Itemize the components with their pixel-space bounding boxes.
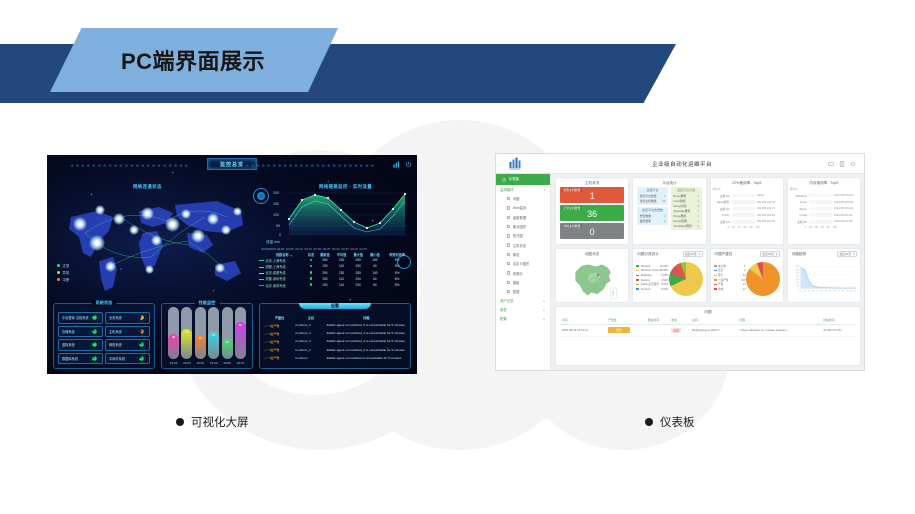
menu-item-icon bbox=[507, 253, 510, 256]
col-host: 主机 bbox=[295, 314, 326, 321]
alarm-host: localhost bbox=[295, 354, 326, 362]
bar-track bbox=[809, 207, 832, 211]
bar-value: 56 bbox=[181, 330, 192, 334]
cell-duration: 4d 23h 6m 14s bbox=[821, 324, 856, 336]
sidebar-item[interactable]: 概览 bbox=[496, 250, 550, 259]
sidebar-item-dashboard[interactable]: 仪表板 bbox=[496, 174, 550, 185]
bar-value: 192.168.100.73 bbox=[757, 207, 779, 210]
bar-label: Proxy bbox=[792, 207, 807, 211]
gauge-ring bbox=[137, 354, 146, 363]
table-column-header[interactable]: 恢复时间 bbox=[646, 316, 669, 325]
col-problem: 问题 bbox=[326, 314, 406, 321]
sidebar-group-label: 报表 bbox=[500, 307, 507, 312]
gauge-label: 中间件系统 bbox=[109, 356, 125, 361]
legend-label: 异常 bbox=[63, 271, 70, 275]
axis-tick: 05 bbox=[816, 290, 818, 292]
bar-value: 46 bbox=[195, 336, 206, 340]
sidebar-group[interactable]: 配置▸ bbox=[496, 314, 550, 323]
sidebar-item[interactable]: 问题 bbox=[496, 194, 550, 203]
axis-tick: 350 bbox=[795, 266, 798, 268]
platform-alarm-box: 监控平台告警数 告警数量1故障数量0 bbox=[637, 207, 668, 225]
board-topbar: ◄◄◄◄◄◄◄◄◄◄◄◄◄◄◄◄◄◄◄◄◄◄◄◄◄ 监控总览 ►►►►►►►►►… bbox=[47, 155, 417, 177]
stat-row-value: 1 bbox=[697, 214, 699, 218]
sidebar-item-label: 问题 bbox=[513, 196, 520, 201]
topbar-left-decoration: ◄◄◄◄◄◄◄◄◄◄◄◄◄◄◄◄◄◄◄◄◄◄◄◄◄ bbox=[69, 164, 189, 169]
bar-label: 主机-05 bbox=[792, 220, 807, 224]
sidebar-item-label: 资源分 bbox=[513, 271, 523, 276]
bar-track bbox=[732, 194, 755, 198]
sidebar-group-label: 监测模块 bbox=[500, 187, 514, 192]
stat-row-value: 1 bbox=[697, 224, 699, 228]
chevron-down-icon: ▾ bbox=[776, 252, 777, 256]
memory-top5-card: 内存使用率 - Top5 单位/% Windows192.168.100.101… bbox=[787, 177, 861, 245]
chevron-down-icon: ▾ bbox=[699, 252, 700, 256]
bar-time-label: 16:06 bbox=[223, 361, 231, 365]
gauge-item: 主机系统 bbox=[105, 326, 150, 338]
stat-card: 告警主机数量1 bbox=[560, 187, 624, 203]
select-value: 最近30天 bbox=[685, 252, 697, 256]
alarm-host: localhost_3 bbox=[295, 337, 326, 345]
axis-tick: 10 bbox=[837, 290, 839, 292]
alarm-panel: 告警 严重性 主机 问题 —一般严重localhost_5Zabbix agen… bbox=[259, 303, 411, 369]
map-legend: 正常 异常 中断 bbox=[57, 263, 69, 284]
axis-tick: 20 bbox=[809, 226, 812, 229]
problem-category-card: 问题分类统计 最近30天 ▾ Network12.00%Windows Serv… bbox=[632, 248, 706, 303]
sidebar-item[interactable]: Web监测 bbox=[496, 203, 550, 212]
bar-tube: 56 bbox=[181, 307, 192, 359]
table-row[interactable]: 2020-08-03 16:15:44警告问题Beijing Export 1/… bbox=[560, 324, 856, 336]
sidebar-item[interactable]: 拓扑图 bbox=[496, 231, 550, 240]
alarm-host: localhost_4 bbox=[295, 329, 326, 337]
performance-panel: 性能监控 4816:025616:034616:045216:403416:06… bbox=[161, 303, 253, 369]
bar-value: 192.168.100.105 bbox=[834, 201, 856, 204]
stat-row-value: 1 bbox=[664, 194, 666, 198]
problem-severity-legend: 未分类0信息1警告61一般严重607严重13灾难17 bbox=[714, 265, 746, 293]
axis-tick: 100 bbox=[833, 226, 837, 229]
sidebar-group[interactable]: 监测模块▾ bbox=[496, 185, 550, 194]
menu-item-icon bbox=[507, 206, 510, 209]
bar-time-label: 16:40 bbox=[210, 361, 218, 365]
sidebar-item-label: 拓扑图 bbox=[513, 233, 523, 238]
bar-column: 4616:04 bbox=[194, 307, 207, 365]
stat-row-value: 1 bbox=[697, 199, 699, 203]
problem-table-card: 问题 时间严重性恢复时间状态主机问题持续时间 2020-08-03 16:15:… bbox=[555, 306, 861, 366]
cpu-top5-card: CPU使用率 - Top5 单位/% 主机-01zabbixNginx服务192… bbox=[710, 177, 784, 245]
sidebar-item[interactable]: 资源分 bbox=[496, 268, 550, 277]
gauge-panel-title: 系统状态 bbox=[92, 300, 117, 306]
sidebar-item-label: Web监测 bbox=[513, 205, 526, 210]
gauge-label: 虚拟系统 bbox=[62, 342, 75, 347]
gauge-label: 主机系统 bbox=[109, 329, 122, 334]
stat-row-value: 1 bbox=[664, 214, 666, 218]
bar-value: 192.168.100.59 bbox=[757, 220, 779, 223]
sidebar-active-label: 仪表板 bbox=[509, 177, 520, 182]
axis-tick: 0 bbox=[805, 226, 806, 229]
bar-tube: 60 bbox=[235, 307, 246, 359]
bar-row: 主机-05192.168.100.38 bbox=[792, 220, 856, 224]
monitor-platform-box: 监控平台 监控平台数量1监控主机数量36 bbox=[637, 187, 668, 205]
screenshot-dashboard[interactable]: 企业级自动化运维平台 仪表板 监测模块▾问题Web监测最新数据聚合图形拓扑图主机… bbox=[495, 153, 865, 371]
bar-track bbox=[809, 213, 832, 217]
dashboard-main: 主机状况 告警主机数量1正常主机数量36停机主机数量0 平台统计 监控平台 监控… bbox=[552, 174, 864, 370]
sidebar-group[interactable]: 报表▸ bbox=[496, 305, 550, 314]
bar-time-label: 16:07 bbox=[237, 361, 245, 365]
bar-panel-title: 性能监控 bbox=[195, 300, 220, 306]
axis-tick: 250 bbox=[795, 272, 798, 274]
bar-time-label: 16:02 bbox=[170, 361, 178, 365]
bar-row: 主机-01zabbix bbox=[715, 194, 779, 198]
axis-tick: 40 bbox=[738, 226, 741, 229]
gauge-label: 平台整体-当前系统 bbox=[62, 315, 89, 320]
problem-trend-chart: 350300250200150100500 010203040506070809… bbox=[788, 258, 860, 301]
bar-label: 主机-03 bbox=[715, 220, 730, 224]
bar-column: 5216:40 bbox=[207, 307, 220, 365]
stat-row-value: 1 bbox=[697, 209, 699, 213]
axis-tick: 80 bbox=[827, 226, 830, 229]
bar-track bbox=[809, 200, 832, 204]
stat-row-key: 监控平台数量 bbox=[640, 194, 657, 198]
menu-item-icon bbox=[507, 216, 510, 219]
axis-tick: 100 bbox=[755, 226, 759, 229]
sidebar-item[interactable]: 聚合图形 bbox=[496, 222, 550, 231]
axis-tick: 07 bbox=[825, 290, 827, 292]
gauge-item: 平台整体-当前系统 bbox=[58, 312, 103, 324]
bar-value: 60 bbox=[235, 323, 246, 327]
bar-value: 192.168.100.45 bbox=[834, 214, 856, 217]
svg-text:200: 200 bbox=[273, 191, 279, 195]
system-status-panel: 系统状态 平台整体-当前系统业务系统存储系统主机系统虚拟系统网络系统数据库系统中… bbox=[53, 303, 155, 369]
china-map bbox=[556, 258, 628, 302]
svg-text:50: 50 bbox=[276, 224, 280, 228]
stat-row-key: Linux群组 bbox=[673, 199, 685, 203]
axis-tick: 08 bbox=[829, 290, 831, 292]
axis-tick: 150 bbox=[795, 278, 798, 280]
axis-tick: 02 bbox=[803, 290, 805, 292]
bar-column: 6016:07 bbox=[234, 307, 247, 365]
alarm-panel-title: 告警 bbox=[299, 303, 371, 309]
alarm-problem: Zabbix agent on localhost_4 is unreachab… bbox=[326, 329, 406, 337]
legend-label: 正常 bbox=[63, 264, 70, 268]
stat-row-key: 故障数量 bbox=[640, 219, 651, 223]
sidebar-item[interactable]: 模板 bbox=[496, 278, 550, 287]
sidebar-item-label: 主机状态 bbox=[513, 243, 526, 248]
alarm-problem: Zabbix agent on localhost_2 is unreachab… bbox=[326, 346, 406, 354]
axis-tick: 12 bbox=[846, 290, 848, 292]
bar-row: Proxy192.168.100.62 bbox=[715, 213, 779, 217]
table-header-row: 严重性 主机 问题 bbox=[264, 314, 406, 321]
orbit-decoration bbox=[257, 192, 265, 200]
note-icon[interactable] bbox=[839, 161, 845, 167]
bar-column: 4816:02 bbox=[167, 307, 180, 365]
bar-label: 主机-01 bbox=[715, 194, 730, 198]
axis-tick: 20 bbox=[732, 226, 735, 229]
memory-top5-title: 内存使用率 - Top5 bbox=[788, 178, 860, 187]
problem-table-title: 问题 bbox=[556, 307, 860, 316]
bar-track bbox=[732, 213, 755, 217]
table-row: —一般严重localhost_4Zabbix agent on localhos… bbox=[264, 329, 406, 337]
host-status-title: 主机状况 bbox=[556, 178, 628, 187]
cell-problem: Output utilization on 'outside' interfac… bbox=[738, 324, 822, 336]
bar-row: 主机-02192.168.100.73 bbox=[715, 207, 779, 211]
caption-right-label: 仪表板 bbox=[660, 414, 695, 430]
bar-column: 5616:03 bbox=[180, 307, 193, 365]
svg-text:100: 100 bbox=[273, 213, 279, 217]
menu-item-icon bbox=[507, 197, 510, 200]
legend-item: Protocol5.00% bbox=[636, 288, 668, 293]
caption-right: 仪表板 bbox=[645, 414, 695, 430]
bar-row: mysql192.168.100.45 bbox=[792, 213, 856, 217]
axis-tick: 300 bbox=[795, 269, 798, 271]
gauge-item: 数据库系统 bbox=[58, 353, 103, 365]
cell-time: 2020-08-03 16:15:44 bbox=[560, 324, 606, 336]
slide-header-banner: PC端界面展示 bbox=[0, 0, 915, 120]
axis-tick: 13 bbox=[850, 290, 852, 292]
stat-row-value: 1 bbox=[697, 219, 699, 223]
table-row: 北京-深圳专线190110290608% bbox=[259, 282, 411, 288]
problem-category-select[interactable]: 最近30天 ▾ bbox=[683, 251, 703, 257]
col-severity: 严重性 bbox=[264, 314, 295, 321]
gauge-item: 业务系统 bbox=[105, 312, 150, 324]
sidebar-item[interactable]: 最新数据 bbox=[496, 213, 550, 222]
stat-row-key: Group组群 bbox=[673, 219, 686, 223]
alarm-problem: Zabbix agent on localhost_3 is unreachab… bbox=[326, 337, 406, 345]
table-column-header[interactable]: 严重性 bbox=[606, 316, 646, 325]
stat-value: 1 bbox=[560, 187, 624, 203]
axis-tick: 50 bbox=[797, 285, 799, 287]
select-value: 最近30天 bbox=[840, 252, 852, 256]
world-map bbox=[55, 187, 251, 299]
menu-item-icon bbox=[507, 262, 510, 265]
bar-value: zabbix bbox=[757, 194, 779, 197]
bullet-icon bbox=[645, 418, 653, 426]
alarm-host: localhost_2 bbox=[295, 346, 326, 354]
stat-row-key: Proxy群组 bbox=[673, 214, 686, 218]
bar-value: 192.168.100.62 bbox=[757, 214, 779, 217]
bar-tube: 46 bbox=[195, 307, 206, 359]
problem-severity-select[interactable]: 最近30天 ▾ bbox=[760, 251, 780, 257]
bar-column: 3416:06 bbox=[221, 307, 234, 365]
problem-severity-pie bbox=[746, 262, 780, 296]
select-value: 最近30天 bbox=[762, 252, 774, 256]
stat-row-value: 36 bbox=[662, 199, 665, 203]
menu-item-icon bbox=[507, 281, 510, 284]
power-icon[interactable] bbox=[405, 161, 412, 168]
gauge-label: 存储系统 bbox=[62, 329, 75, 334]
bar-value: 192.168.100.101 bbox=[834, 194, 856, 197]
alarm-severity: —一般严重 bbox=[264, 329, 295, 337]
stat-row-value: 1 bbox=[697, 194, 699, 198]
bar-row: Linux192.168.100.105 bbox=[792, 200, 856, 204]
link-traffic-table: 2020/08/06 00:00 00:05 00:10 00:15 00:20… bbox=[259, 247, 411, 288]
problem-trend-card: 问题趋势 最近30天 ▾ bbox=[787, 248, 861, 303]
axis-tick: 04 bbox=[812, 290, 814, 292]
stat-row-key: Templates群组 bbox=[673, 224, 691, 228]
bar-label: 主机-02 bbox=[715, 207, 730, 211]
sidebar-group[interactable]: 资产记录▸ bbox=[496, 296, 550, 305]
message-icon[interactable] bbox=[828, 161, 834, 167]
chevron-down-icon: ▸ bbox=[543, 317, 545, 321]
platform-stats-card: 平台统计 监控平台 监控平台数量1监控主机数量36 监控平台告警数 告警数量1故… bbox=[632, 177, 706, 245]
platform-stats-title: 平台统计 bbox=[633, 178, 705, 187]
alarm-severity: —一般严重 bbox=[264, 346, 295, 354]
stat-value: 36 bbox=[560, 205, 624, 221]
geo-map-title: 地图状态 bbox=[556, 249, 628, 258]
power-icon[interactable] bbox=[850, 161, 856, 167]
chevron-down-icon: ▾ bbox=[543, 188, 545, 192]
gauge-ring bbox=[90, 313, 99, 322]
traffic-area-chart: 200150100 500 流量 m/s bbox=[265, 185, 411, 247]
screenshot-visualization-board[interactable]: ◄◄◄◄◄◄◄◄◄◄◄◄◄◄◄◄◄◄◄◄◄◄◄◄◄ 监控总览 ►►►►►►►►►… bbox=[47, 155, 417, 374]
bar-label: Proxy bbox=[715, 213, 730, 217]
problem-severity-card: 问题严重性 最近30天 ▾ 未分类0信息1警告61一般严重607严重13灾难17 bbox=[710, 248, 784, 303]
table-header-row: 时间严重性恢复时间状态主机问题持续时间 bbox=[560, 316, 856, 325]
bar-tube: 52 bbox=[208, 307, 219, 359]
svg-text:流量 m/s: 流量 m/s bbox=[266, 239, 280, 244]
problem-trend-select[interactable]: 最近30天 ▾ bbox=[837, 251, 857, 257]
chevron-down-icon: ▸ bbox=[543, 308, 545, 312]
bar-row: 主机-03192.168.100.59 bbox=[715, 220, 779, 224]
table-column-header[interactable]: 问题 bbox=[738, 316, 822, 325]
table-column-header[interactable]: 持续时间 bbox=[821, 316, 856, 325]
bar-row: Windows192.168.100.101 bbox=[792, 194, 856, 198]
gauge-label: 网络系统 bbox=[109, 342, 122, 347]
stat-row: 故障数量0 bbox=[639, 218, 667, 223]
chart-icon[interactable] bbox=[393, 161, 400, 168]
axis-tick: 03 bbox=[808, 290, 810, 292]
alarm-severity: —一般严重 bbox=[264, 321, 295, 329]
bar-label: mysql bbox=[792, 213, 807, 217]
sidebar[interactable]: 仪表板 监测模块▾问题Web监测最新数据聚合图形拓扑图主机状态概览自定义图形资源… bbox=[496, 174, 551, 370]
alarm-host: localhost_5 bbox=[295, 321, 326, 329]
bar-track bbox=[732, 200, 755, 204]
stat-value: 0 bbox=[560, 223, 624, 239]
sidebar-item-label: 聚合图形 bbox=[513, 224, 526, 229]
bar-track bbox=[809, 194, 832, 198]
bar-time-label: 16:03 bbox=[183, 361, 191, 365]
stat-row: Templates群组1 bbox=[672, 223, 700, 228]
stat-row-key: Template群组 bbox=[673, 209, 690, 213]
cell-host: Beijing Export 1/0/1/1 bbox=[690, 324, 737, 336]
axis-tick: 40 bbox=[815, 226, 818, 229]
sidebar-item-label: 模板 bbox=[513, 280, 520, 285]
sidebar-item-label: 最新数据 bbox=[513, 215, 526, 220]
gauge-item: 存储系统 bbox=[58, 326, 103, 338]
problem-category-legend: Network12.00%Windows Server68.00%Databas… bbox=[636, 265, 668, 293]
bar-row: Nginx服务192.168.100.78 bbox=[715, 200, 779, 204]
gauge-ring bbox=[90, 340, 99, 349]
gauge-label: 业务系统 bbox=[109, 315, 122, 320]
axis-tick: 80 bbox=[750, 226, 753, 229]
platform-group-box: 监控平台分组 Proxy群组1Linux群组1Group列表1Template群… bbox=[671, 187, 702, 230]
bar-track bbox=[732, 207, 755, 211]
axis-tick: 14 bbox=[854, 290, 856, 292]
sidebar-item[interactable]: 自定义图形 bbox=[496, 259, 550, 268]
bar-track bbox=[809, 220, 832, 224]
sidebar-item[interactable]: 数据 bbox=[496, 287, 550, 296]
page-title: PC端界面展示 bbox=[38, 28, 338, 92]
bar-time-label: 16:04 bbox=[197, 361, 205, 365]
sidebar-item[interactable]: 主机状态 bbox=[496, 240, 550, 249]
cpu-top5-title: CPU使用率 - Top5 bbox=[711, 178, 783, 187]
bar-label: Windows bbox=[792, 194, 807, 198]
stat-row-value: 0 bbox=[664, 219, 666, 223]
axis-tick: 60 bbox=[821, 226, 824, 229]
bar-tube: 48 bbox=[168, 307, 179, 359]
axis-tick: 100 bbox=[795, 281, 798, 283]
app-header: 企业级自动化运维平台 bbox=[496, 154, 864, 174]
caption-left-label: 可视化大屏 bbox=[191, 414, 249, 430]
app-title: 企业级自动化运维平台 bbox=[536, 160, 828, 168]
bar-tube: 34 bbox=[222, 307, 233, 359]
gauge-ring bbox=[137, 327, 146, 336]
gauge-item: 网络系统 bbox=[105, 339, 150, 351]
stat-row-key: Group列表 bbox=[673, 204, 686, 208]
chevron-down-icon: ▸ bbox=[543, 299, 545, 303]
bar-value: 192.168.100.78 bbox=[757, 201, 779, 204]
cell-severity: 警告 bbox=[606, 324, 646, 336]
table-row: —一般严重localhostZabbix agent on localhost … bbox=[264, 354, 406, 362]
caption-left: 可视化大屏 bbox=[176, 414, 249, 430]
dashboard-icon bbox=[502, 178, 506, 182]
bar-value: 192.168.100.114 bbox=[834, 207, 856, 210]
stat-card: 停机主机数量0 bbox=[560, 223, 624, 239]
bar-label: Nginx服务 bbox=[715, 200, 730, 204]
stat-row-key: 告警数量 bbox=[640, 214, 651, 218]
table-row: —一般严重localhost_5Zabbix agent on localhos… bbox=[264, 321, 406, 329]
axis-tick: 11 bbox=[842, 290, 844, 292]
table-row: —一般严重localhost_2Zabbix agent on localhos… bbox=[264, 346, 406, 354]
bar-value: 48 bbox=[168, 335, 179, 339]
sidebar-item-label: 数据 bbox=[513, 289, 520, 294]
bar-value: 34 bbox=[222, 340, 233, 344]
table-column-header[interactable]: 主机 bbox=[690, 316, 737, 325]
axis-tick: 200 bbox=[795, 275, 798, 277]
sidebar-item-label: 自定义图形 bbox=[513, 261, 529, 266]
gauge-ring bbox=[90, 327, 99, 336]
gauge-ring bbox=[137, 340, 146, 349]
sidebar-group-label: 资产记录 bbox=[500, 298, 514, 303]
axis-tick: 01 bbox=[799, 290, 801, 292]
axis-tick: 06 bbox=[820, 290, 822, 292]
menu-item-icon bbox=[507, 290, 510, 293]
gauge-item: 中间件系统 bbox=[105, 353, 150, 365]
alarm-problem: Zabbix agent on localhost is unreachable… bbox=[326, 354, 406, 362]
alarm-problem: Zabbix agent on localhost_5 is unreachab… bbox=[326, 321, 406, 329]
stat-row: 监控主机数量36 bbox=[639, 198, 667, 203]
stat-row-key: Proxy群组 bbox=[673, 194, 686, 198]
menu-item-icon bbox=[507, 243, 510, 246]
stat-card: 正常主机数量36 bbox=[560, 205, 624, 221]
gauge-ring bbox=[90, 354, 99, 363]
menu-item-icon bbox=[507, 225, 510, 228]
legend-label: 中断 bbox=[63, 278, 70, 282]
topbar-right-decoration: ►►►►►►►►►►►►►►►►►►►►►►►►►►►►► bbox=[245, 164, 375, 169]
bar-value: 52 bbox=[208, 333, 219, 337]
table-column-header[interactable]: 状态 bbox=[669, 316, 690, 325]
chevron-down-icon: ▾ bbox=[853, 252, 854, 256]
bar-label: Linux bbox=[792, 200, 807, 204]
alarm-severity: —一般严重 bbox=[264, 337, 295, 345]
cell-status: 问题 bbox=[669, 324, 690, 336]
host-status-card: 主机状况 告警主机数量1正常主机数量36停机主机数量0 bbox=[555, 177, 629, 245]
bullet-icon bbox=[176, 418, 184, 426]
gauge-item: 虚拟系统 bbox=[58, 339, 103, 351]
app-logo bbox=[496, 157, 536, 170]
alarm-severity: —一般严重 bbox=[264, 354, 295, 362]
table-column-header[interactable]: 时间 bbox=[560, 316, 606, 325]
bar-value: 192.168.100.38 bbox=[834, 220, 856, 223]
bar-track bbox=[732, 220, 755, 224]
